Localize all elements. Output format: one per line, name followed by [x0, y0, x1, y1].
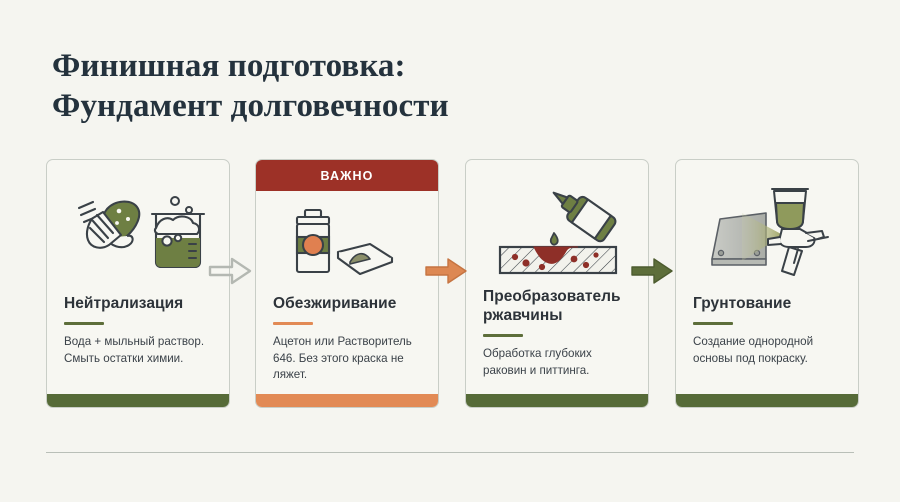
step-description: Ацетон или Растворитель 646. Без этого к… [273, 334, 425, 384]
step-card-text: Грунтование Создание однородной основы п… [693, 294, 845, 367]
important-banner: ВАЖНО [256, 160, 438, 191]
bottle-shape [546, 185, 618, 243]
accent-rule [483, 334, 523, 337]
card-footer-bar [256, 394, 438, 407]
card-footer-bar [466, 394, 648, 407]
accent-rule [64, 322, 104, 325]
accent-rule [693, 322, 733, 325]
flow-arrow-2 [424, 256, 468, 286]
step-title: Обезжиривание [273, 294, 425, 313]
step-description: Обработка глубоких раковин и питтинга. [483, 346, 635, 379]
step-title: Нейтрализация [64, 294, 216, 313]
step-card-degreasing[interactable]: ВАЖНО [255, 159, 439, 408]
spray-gun-panel-icon [676, 182, 858, 278]
solvent-can-shape [297, 210, 329, 272]
step-title: Преобразователь ржавчины [483, 287, 635, 325]
slide-canvas: Финишная подготовка: Фундамент долговечн… [0, 0, 900, 502]
accent-rule [273, 322, 313, 325]
step-description: Создание однородной основы под покраску. [693, 334, 845, 367]
step-card-text: Преобразователь ржавчины Обработка глубо… [483, 287, 635, 379]
card-footer-bar [47, 394, 229, 407]
step-card-neutralization[interactable]: Нейтрализация Вода + мыльный раствор. См… [46, 159, 230, 408]
flow-arrow-3 [630, 256, 674, 286]
cloth-shape [338, 244, 392, 274]
title-line-1: Финишная подготовка: [52, 46, 812, 86]
step-card-text: Обезжиривание Ацетон или Растворитель 64… [273, 294, 425, 384]
step-description: Вода + мыльный раствор. Смыть остатки хи… [64, 334, 216, 367]
page-title: Финишная подготовка: Фундамент долговечн… [52, 46, 812, 126]
solvent-can-cloth-icon [256, 194, 438, 290]
step-card-priming[interactable]: Грунтование Создание однородной основы п… [675, 159, 859, 408]
step-card-rust-converter[interactable]: Преобразователь ржавчины Обработка глубо… [465, 159, 649, 408]
step-title: Грунтование [693, 294, 845, 313]
card-footer-bar [676, 394, 858, 407]
metal-bar-shape [500, 247, 616, 273]
flow-arrow-1 [208, 256, 252, 286]
rust-converter-bottle-icon [466, 182, 648, 278]
step-card-text: Нейтрализация Вода + мыльный раствор. См… [64, 294, 216, 367]
sponge-beaker-icon [47, 182, 229, 278]
beaker-shape [152, 214, 204, 267]
footer-divider [46, 452, 854, 453]
title-line-2: Фундамент долговечности [52, 86, 812, 126]
